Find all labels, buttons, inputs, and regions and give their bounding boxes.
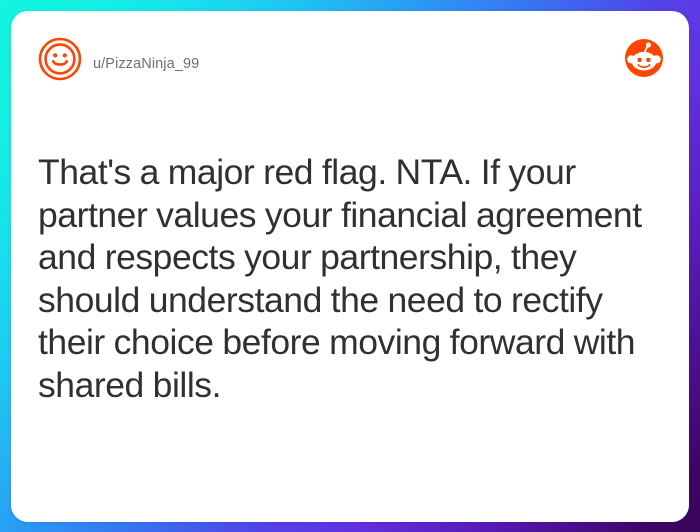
post-header: u/PizzaNinja_99	[11, 11, 689, 107]
username-label[interactable]: u/PizzaNinja_99	[93, 56, 199, 72]
reddit-post-card: u/PizzaNinja_99	[11, 11, 689, 522]
reddit-snoo-logo-icon	[624, 38, 664, 78]
smiley-face-avatar-icon[interactable]	[38, 37, 82, 81]
post-body-text: That's a major red flag. NTA. If your pa…	[38, 151, 658, 406]
screenshot-stage: u/PizzaNinja_99	[0, 0, 700, 532]
